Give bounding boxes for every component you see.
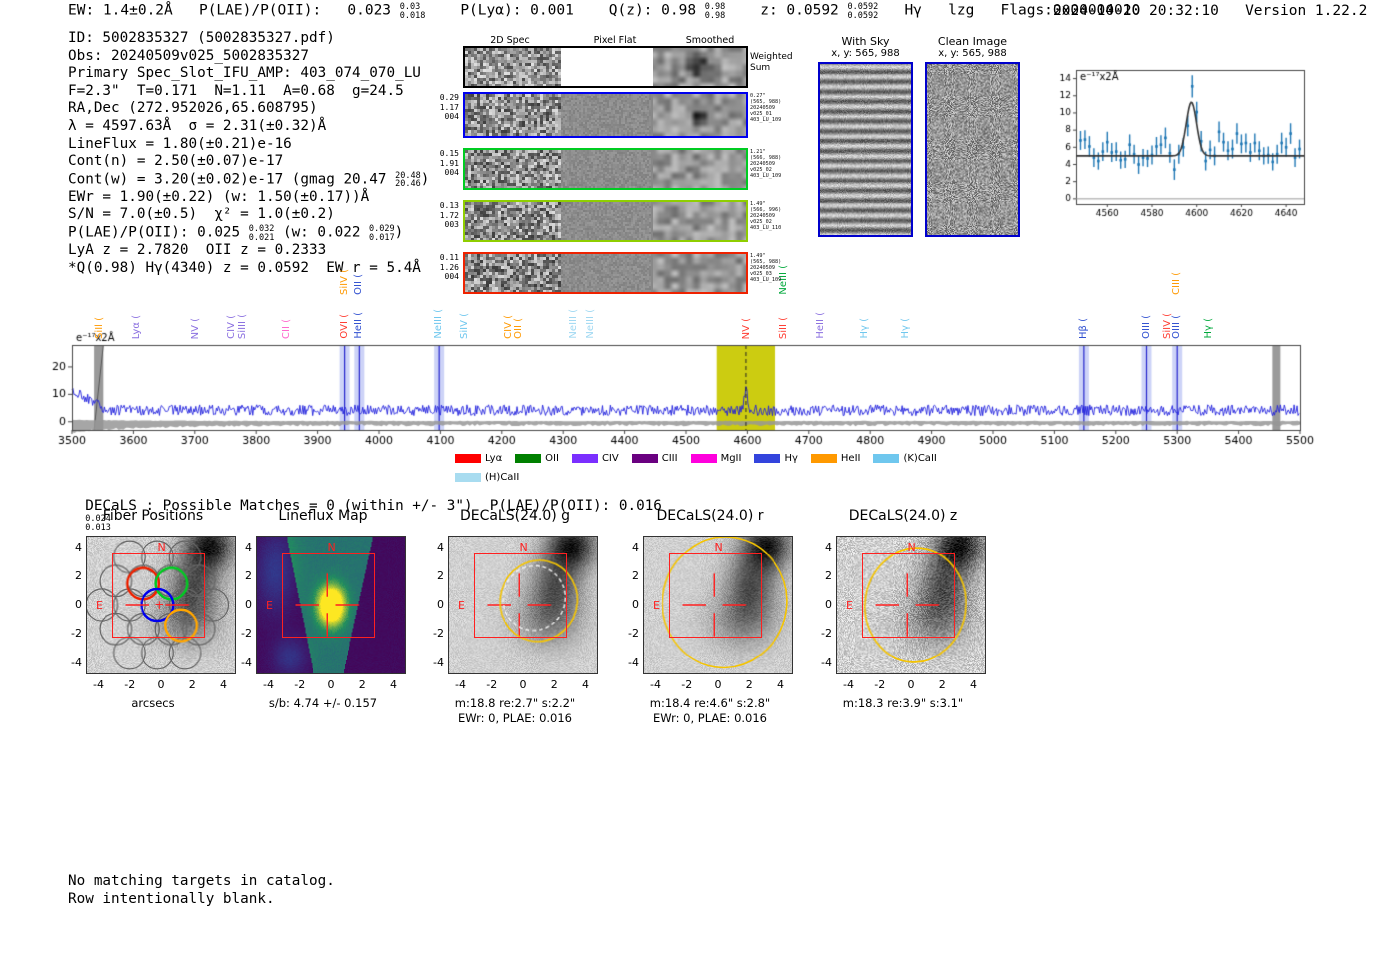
emission-line-label: Hγ ( [859, 318, 870, 339]
header-z-errors: 0.05920.0592 [848, 3, 879, 20]
legend-label: CIV [602, 453, 619, 464]
legend-item: Lyα [455, 453, 502, 465]
legend-swatch [632, 454, 658, 463]
emission-line-labels: SiIl (Lyα (NV (CIV (SiIII (CII (OVI (SiI… [0, 265, 1400, 465]
with-sky-image [818, 62, 913, 237]
x-tick: 0 [514, 678, 532, 691]
x-tick: -4 [90, 678, 108, 691]
line-profile-plot [1038, 60, 1310, 230]
info-line-radec: RA,Dec (272.952026,65.608795) [68, 100, 429, 118]
emission-line-label: OVI ( [339, 314, 350, 339]
y-tick: 4 [234, 541, 252, 554]
y-tick: 0 [621, 598, 639, 611]
x-tick: 2 [545, 678, 563, 691]
info-line-obs: Obs: 20240509v025_5002835327 [68, 48, 429, 66]
header-qz-errors: 0.980.98 [705, 3, 725, 20]
x-tick: -2 [871, 678, 889, 691]
x-tick: 4 [215, 678, 233, 691]
cutout-image: NE [643, 536, 793, 674]
legend-label: OII [545, 453, 559, 464]
north-marker: N [158, 541, 166, 554]
emission-line-label: SiIV ( [459, 313, 470, 339]
emission-line-label: Lyα ( [131, 315, 142, 339]
aperture-box [112, 553, 205, 639]
weighted-sum-label: Weighted Sum [750, 52, 793, 74]
y-tick: 2 [426, 569, 444, 582]
emission-line-label: NV ( [190, 318, 201, 339]
aperture-box [669, 553, 762, 639]
cutout-title: Fiber Positions [68, 508, 238, 524]
emission-line-label: OIII ( [1171, 315, 1182, 339]
x-tick: 4 [965, 678, 983, 691]
legend-swatch [455, 454, 481, 463]
info-line-id: ID: 5002835327 (5002835327.pdf) [68, 30, 429, 48]
x-tick: -4 [260, 678, 278, 691]
cutout-image: NE [256, 536, 406, 674]
emission-line-label: CII ( [281, 319, 292, 339]
footer-line-1: No matching targets in catalog. [68, 872, 335, 890]
header-plae-errors: 0.030.018 [400, 3, 426, 20]
emission-line-label: Hβ ( [1078, 318, 1089, 339]
version: Version 1.22.2 [1245, 3, 1367, 19]
cutout-title: DECaLS(24.0) g [430, 508, 600, 524]
fiber-meta: 1.21" (566, 988) 20240509 v025_02 403_LU… [750, 150, 781, 180]
legend-label: Hγ [784, 453, 797, 464]
legend-swatch [515, 454, 541, 463]
y-tick: -4 [426, 656, 444, 669]
east-marker: E [266, 599, 273, 612]
emission-line-label: SiII ( [778, 317, 789, 339]
cutout-panel: Lineflux MapNE-4-2024-4-2024s/b: 4.74 +/… [238, 508, 408, 738]
cutout-panel: DECaLS(24.0) rNE-4-2024-4-2024m:18.4 re:… [625, 508, 795, 738]
cutout-caption-2: EWr: 0, PLAE: 0.016 [422, 711, 608, 725]
legend-item: HeII [811, 453, 861, 465]
clean-image [925, 62, 1020, 237]
footer-note: No matching targets in catalog. Row inte… [68, 872, 335, 908]
x-tick: 0 [709, 678, 727, 691]
cutout-image: NE [448, 536, 598, 674]
y-tick: 4 [426, 541, 444, 554]
legend-item: CIV [572, 453, 619, 465]
legend-label: (K)CaII [903, 453, 936, 464]
cutout-title: Lineflux Map [238, 508, 408, 524]
panel-title-2dspec: 2D Spec [470, 35, 550, 46]
clean-image-coords: x, y: 565, 988 [925, 48, 1020, 59]
legend-item: (K)CaII [873, 453, 936, 465]
x-tick: 2 [933, 678, 951, 691]
east-marker: E [96, 599, 103, 612]
spectrum-legend: LyαOIICIVCIIIMgIIHγHeII(K)CaII(H)CaII [455, 446, 975, 484]
info-line-ewr: EWr = 1.90(±0.22) (w: 1.50(±0.17))Å [68, 189, 429, 207]
legend-swatch [455, 473, 481, 482]
y-tick: 4 [814, 541, 832, 554]
info-line-contn: Cont(n) = 2.50(±0.07)e-17 [68, 153, 429, 171]
emission-line-label: NeIII ( [433, 309, 444, 339]
cutout-caption-1: s/b: 4.74 +/- 0.157 [230, 696, 416, 710]
emission-line-label: NeIII ( [585, 309, 596, 339]
y-tick: 0 [234, 598, 252, 611]
header-ew: EW: 1.4±0.2Å [68, 3, 173, 19]
info-line-seeing: F=2.3" T=0.171 N=1.11 A=0.68 g=24.5 [68, 83, 429, 101]
aperture-box [474, 553, 567, 639]
x-tick: 0 [322, 678, 340, 691]
x-tick: 2 [740, 678, 758, 691]
cutout-panel-group: Fiber PositionsNE-4-2024-4-2024arcsecsLi… [0, 508, 1400, 738]
cutout-title: DECaLS(24.0) r [625, 508, 795, 524]
y-tick: -2 [426, 627, 444, 640]
emission-line-label: SiIV ( [339, 269, 350, 295]
x-tick: -2 [291, 678, 309, 691]
y-tick: -2 [814, 627, 832, 640]
y-tick: 4 [64, 541, 82, 554]
north-marker: N [715, 541, 723, 554]
cutout-caption-1: arcsecs [60, 696, 246, 710]
x-tick: -2 [121, 678, 139, 691]
emission-line-label: Hγ ( [1203, 318, 1214, 339]
info-line-contw: Cont(w) = 3.20(±0.02)e-17 (gmag 20.47 20… [68, 171, 429, 189]
aperture-box [862, 553, 955, 639]
east-marker: E [846, 599, 853, 612]
full-spectrum-plot: SiIl (Lyα (NV (CIV (SiIII (CII (OVI (SiI… [0, 265, 1400, 465]
header-timestamp-version: 2024-10-20 20:32:10 Version 1.22.2 [1053, 3, 1367, 19]
y-tick: 2 [64, 569, 82, 582]
legend-item: Hγ [754, 453, 797, 465]
y-tick: -4 [621, 656, 639, 669]
legend-label: (H)CaII [485, 472, 519, 483]
legend-item: OII [515, 453, 559, 465]
y-tick: 0 [64, 598, 82, 611]
east-marker: E [653, 599, 660, 612]
header-z: z: 0.0592 [760, 3, 839, 19]
fiber-stats: 0.29 1.17 004 [425, 93, 459, 122]
cutout-caption-1: m:18.3 re:3.9" s:3.1" [810, 696, 996, 710]
emission-line-label: Hγ ( [900, 318, 911, 339]
info-line-redshifts: LyA z = 2.7820 OII z = 0.2333 [68, 242, 429, 260]
header-qz: Q(z): 0.98 [609, 3, 696, 19]
y-tick: 2 [621, 569, 639, 582]
with-sky-title: With Sky [818, 35, 913, 48]
legend-swatch [754, 454, 780, 463]
y-tick: 2 [234, 569, 252, 582]
x-tick: -4 [452, 678, 470, 691]
fiber-strip [463, 92, 748, 138]
legend-item: CIII [632, 453, 678, 465]
north-marker: N [520, 541, 528, 554]
x-tick: 0 [152, 678, 170, 691]
cutout-title: DECaLS(24.0) z [818, 508, 988, 524]
legend-label: CIII [662, 453, 678, 464]
cutout-caption-1: m:18.4 re:4.6" s:2.8" [617, 696, 803, 710]
y-tick: -4 [814, 656, 832, 669]
cutout-caption-2: EWr: 0, PLAE: 0.016 [617, 711, 803, 725]
legend-swatch [811, 454, 837, 463]
east-marker: E [458, 599, 465, 612]
fiber-stats: 0.13 1.72 003 [425, 201, 459, 230]
x-tick: 0 [902, 678, 920, 691]
emission-line-label: CIV ( [226, 315, 237, 339]
legend-item: MgII [691, 453, 742, 465]
legend-label: Lyα [485, 453, 502, 464]
legend-swatch [572, 454, 598, 463]
x-tick: 2 [353, 678, 371, 691]
panel-title-pixelflat: Pixel Flat [570, 35, 660, 46]
fiber-strip [463, 252, 748, 294]
y-tick: 2 [814, 569, 832, 582]
clean-image-title: Clean Image [925, 35, 1020, 48]
panel-title-smoothed: Smoothed [665, 35, 755, 46]
x-tick: -2 [678, 678, 696, 691]
info-line-plae: P(LAE)/P(OII): 0.025 0.0320.021 (w: 0.02… [68, 224, 429, 242]
cutout-caption-1: m:18.8 re:2.7" s:2.2" [422, 696, 608, 710]
header-plya: P(Lyα): 0.001 [460, 3, 574, 19]
fiber-stats: 0.11 1.26 004 [425, 253, 459, 282]
emission-line-label: HeII ( [815, 312, 826, 339]
y-tick: 0 [426, 598, 444, 611]
legend-swatch [873, 454, 899, 463]
fiber-strip [463, 200, 748, 242]
x-tick: 4 [772, 678, 790, 691]
timestamp: 2024-10-20 20:32:10 [1053, 3, 1219, 19]
aperture-box [282, 553, 375, 639]
x-tick: -4 [647, 678, 665, 691]
emission-line-label: OII ( [353, 274, 364, 295]
y-tick: 4 [621, 541, 639, 554]
emission-line-label: SiIl ( [94, 317, 105, 339]
fiber-stats: 0.15 1.91 004 [425, 149, 459, 178]
x-tick: 4 [385, 678, 403, 691]
y-tick: -2 [621, 627, 639, 640]
weighted-sum-strip [463, 46, 748, 88]
fiber-strip [463, 148, 748, 190]
north-marker: N [908, 541, 916, 554]
cutout-panel: Fiber PositionsNE-4-2024-4-2024arcsecs [68, 508, 238, 738]
emission-line-label: NeIII ( [568, 309, 579, 339]
header-quality: lzg [948, 3, 974, 19]
with-sky-coords: x, y: 565, 988 [818, 48, 913, 59]
info-line-lambda: λ = 4597.63Å σ = 2.31(±0.32)Å [68, 118, 429, 136]
fiber-meta: 0.27" (565, 988) 20240509 v025_01 403_LU… [750, 94, 781, 124]
emission-line-label: OII ( [513, 318, 524, 339]
y-tick: -4 [64, 656, 82, 669]
x-tick: -2 [483, 678, 501, 691]
header-plae-value: 0.023 [347, 3, 391, 19]
info-line-lineflux: LineFlux = 1.80(±0.21)e-16 [68, 136, 429, 154]
emission-line-label: CIII ( [1171, 272, 1182, 295]
legend-swatch [691, 454, 717, 463]
emission-line-label: SiIII ( [237, 314, 248, 339]
info-line-slot: Primary Spec_Slot_IFU_AMP: 403_074_070_L… [68, 65, 429, 83]
cutout-image: NE [86, 536, 236, 674]
north-marker: N [328, 541, 336, 554]
cutout-panel: DECaLS(24.0) zNE-4-2024-4-2024m:18.3 re:… [818, 508, 988, 738]
footer-line-2: Row intentionally blank. [68, 890, 335, 908]
x-tick: 2 [183, 678, 201, 691]
header-plae-label: P(LAE)/P(OII): [199, 3, 321, 19]
header-line-id: Hγ [904, 3, 921, 19]
legend-label: HeII [841, 453, 861, 464]
fiber-meta: 1.49" (566, 996) 20240509 v025_02 403_LU… [750, 202, 781, 232]
object-info-block: ID: 5002835327 (5002835327.pdf) Obs: 202… [68, 30, 429, 277]
y-tick: -2 [64, 627, 82, 640]
emission-line-label: OIII ( [1141, 315, 1152, 339]
y-tick: -4 [234, 656, 252, 669]
cutout-panel: DECaLS(24.0) gNE-4-2024-4-2024m:18.8 re:… [430, 508, 600, 738]
fiber-meta: 1.49" (565, 988) 20240509 v025_03 403_LU… [750, 254, 781, 284]
info-line-sn: S/N = 7.0(±0.5) χ² = 1.0(±0.2) [68, 206, 429, 224]
y-tick: -2 [234, 627, 252, 640]
cutout-image: NE [836, 536, 986, 674]
emission-line-label: HeII ( [353, 312, 364, 339]
x-tick: 4 [577, 678, 595, 691]
emission-line-label: NV ( [741, 318, 752, 339]
header-summary-line: EW: 1.4±0.2Å P(LAE)/P(OII): 0.023 0.030.… [68, 2, 1140, 19]
x-tick: -4 [840, 678, 858, 691]
legend-label: MgII [721, 453, 742, 464]
y-tick: 0 [814, 598, 832, 611]
